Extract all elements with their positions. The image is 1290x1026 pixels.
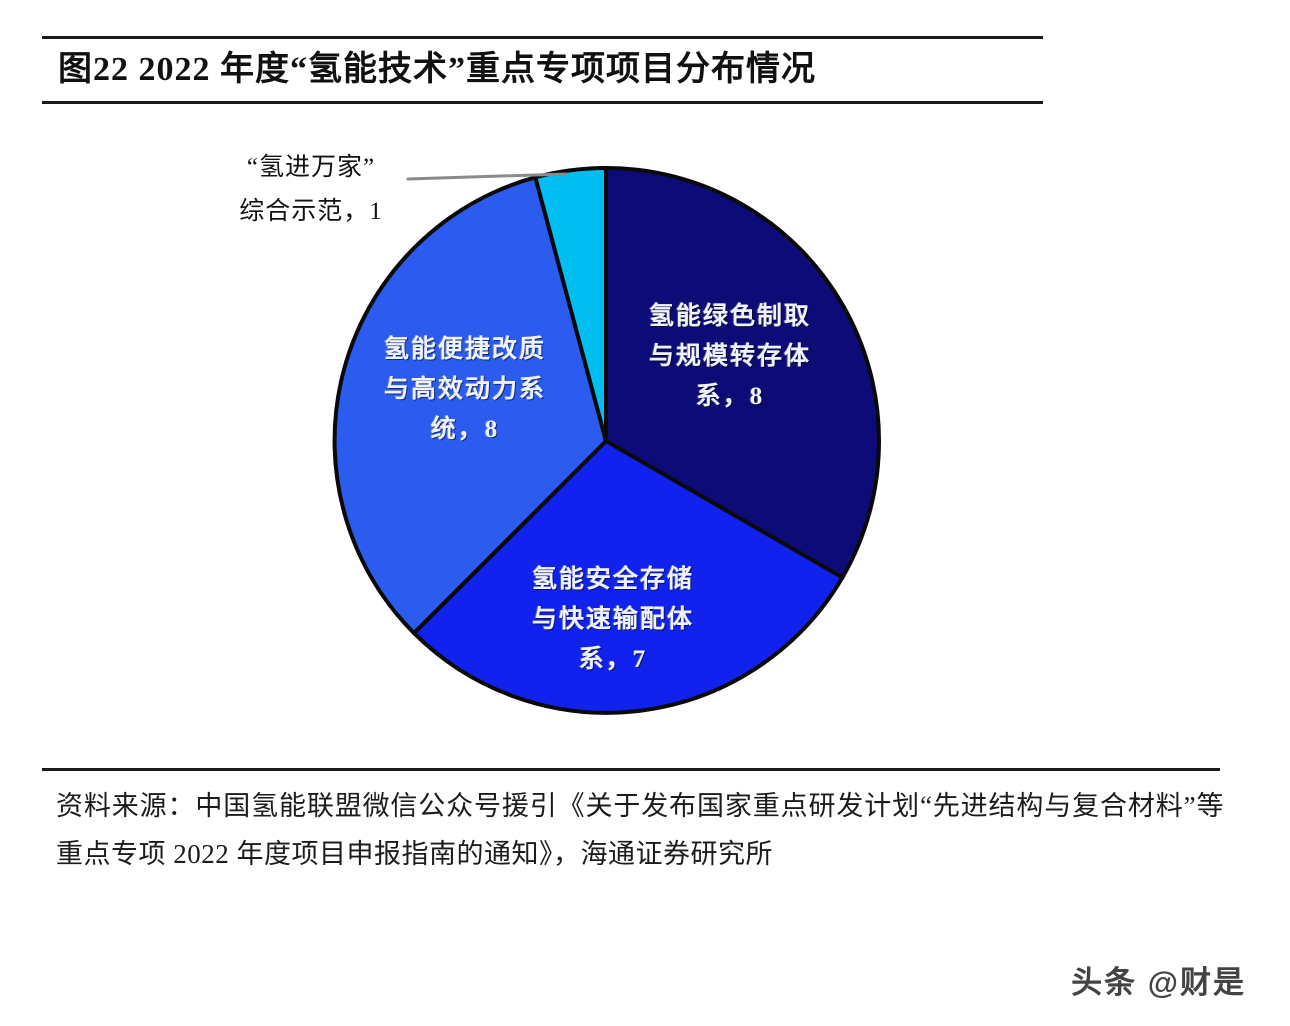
source-note: 资料来源：中国氢能联盟微信公众号援引《关于发布国家重点研发计划“先进结构与复合材… bbox=[56, 782, 1224, 878]
figure-page: 图22 2022 年度“氢能技术”重点专项项目分布情况 “氢进万家” 综合示范，… bbox=[0, 0, 1290, 1026]
cyan-label-line-2: 综合示范，1 bbox=[196, 190, 426, 234]
pie-chart: “氢进万家” 综合示范，1 氢能绿色制取 与规模转存体 系，8 氢能安全存储 与… bbox=[0, 0, 1290, 760]
watermark: 头条 @财是 bbox=[1071, 957, 1246, 1002]
cyan-slice-external-label: “氢进万家” 综合示范，1 bbox=[196, 146, 426, 234]
cyan-label-line-1: “氢进万家” bbox=[196, 146, 426, 190]
pie-chart-svg bbox=[0, 0, 1290, 760]
source-top-rule bbox=[42, 768, 1220, 771]
